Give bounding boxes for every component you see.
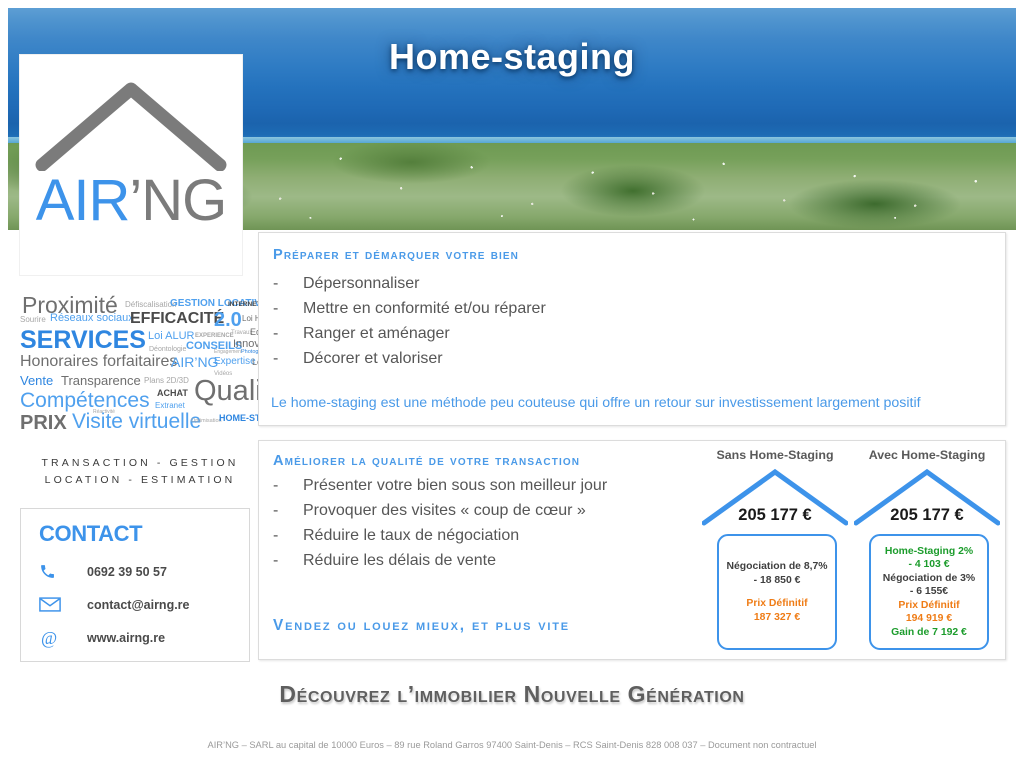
- contact-row-email[interactable]: contact@airng.re: [39, 597, 190, 612]
- flyer-page: Home-staging AIR’NG ProximitéDéfiscalisa…: [0, 0, 1024, 765]
- comparison-diagram: Sans Home-Staging205 177 €Négociation de…: [705, 448, 997, 653]
- bullet-dash: -: [273, 350, 303, 368]
- bullet-text: Décorer et valoriser: [303, 350, 443, 368]
- bullet-item: -Réduire les délais de vente: [273, 552, 607, 570]
- house-detail-line: Négociation de 8,7%: [726, 560, 827, 574]
- contact-row-phone[interactable]: 0692 39 50 57: [39, 563, 167, 580]
- house-detail-line: - 18 850 €: [754, 574, 801, 588]
- word-cloud: ProximitéDéfiscalisationGESTION LOCATIVE…: [18, 292, 262, 440]
- word-cloud-item: EFFICACITÉ: [130, 311, 224, 327]
- word-cloud-item: Visite virtuelle: [72, 411, 201, 432]
- bullet-dash: -: [273, 275, 303, 293]
- word-cloud-item: Réseaux sociaux: [50, 313, 134, 324]
- house-card: Sans Home-Staging205 177 €Négociation de…: [705, 448, 845, 653]
- word-cloud-item: SERVICES: [20, 328, 146, 353]
- house-detail-line: - 6 155€: [910, 585, 948, 599]
- word-cloud-item: Transparence: [61, 374, 141, 387]
- bullet-text: Réduire les délais de vente: [303, 552, 496, 570]
- bullet-item: -Ranger et aménager: [273, 325, 546, 343]
- bullet-dash: -: [273, 300, 303, 318]
- bullet-dash: -: [273, 502, 303, 520]
- house-price: 205 177 €: [857, 506, 997, 525]
- house-detail-line: Home-Staging 2%: [885, 545, 973, 559]
- house-label: Avec Home-Staging: [857, 448, 997, 462]
- word-cloud-item: Plans 2D/3D: [144, 377, 189, 385]
- house-detail-line: Négociation de 3%: [883, 572, 975, 586]
- bullet-item: -Dépersonnaliser: [273, 275, 546, 293]
- envelope-icon: [39, 597, 69, 612]
- at-sign-icon: @: [39, 628, 69, 648]
- bullet-text: Provoquer des visites « coup de cœur »: [303, 502, 586, 520]
- contact-email-value: contact@airng.re: [87, 598, 190, 612]
- bullet-dash: -: [273, 527, 303, 545]
- house-detail-line: Gain de 7 192 €: [891, 626, 967, 640]
- word-cloud-item: AIR’NG: [171, 355, 218, 369]
- bullet-text: Présenter votre bien sous son meilleur j…: [303, 477, 607, 495]
- contact-phone-value: 0692 39 50 57: [87, 565, 167, 579]
- section1-heading: Préparer et démarquer votre bien: [273, 247, 519, 263]
- word-cloud-item: HOME-STAGING: [219, 414, 262, 423]
- contact-card: CONTACT 0692 39 50 57 contact@airng.re @…: [20, 508, 250, 662]
- word-cloud-item: 2.0: [214, 310, 242, 330]
- word-cloud-item: Optimisation: [191, 419, 222, 425]
- house-detail-line: 194 919 €: [906, 612, 952, 626]
- logo-ng-text: NG: [141, 168, 226, 233]
- section2-bullet-list: -Présenter votre bien sous son meilleur …: [273, 477, 607, 577]
- house-detail-line: Prix Définitif: [746, 597, 807, 611]
- bullet-item: -Présenter votre bien sous son meilleur …: [273, 477, 607, 495]
- house-details-box: Négociation de 8,7%- 18 850 €Prix Défini…: [717, 534, 837, 650]
- logo-air-text: AIR: [36, 168, 130, 233]
- bullet-item: -Provoquer des visites « coup de cœur »: [273, 502, 607, 520]
- word-cloud-item: ACHAT: [157, 389, 188, 398]
- logo-card: AIR’NG: [20, 55, 242, 275]
- tagline-line-2: LOCATION - ESTIMATION: [18, 472, 262, 489]
- bullet-text: Dépersonnaliser: [303, 275, 420, 293]
- house-detail-line: 187 327 €: [754, 611, 800, 625]
- word-cloud-item: INTERNET: [228, 302, 261, 309]
- house-label: Sans Home-Staging: [705, 448, 845, 462]
- bullet-item: -Décorer et valoriser: [273, 350, 546, 368]
- word-cloud-item: Expertise: [214, 357, 256, 367]
- bullet-text: Ranger et aménager: [303, 325, 450, 343]
- house-card: Avec Home-Staging205 177 €Home-Staging 2…: [857, 448, 997, 653]
- bullet-item: -Mettre en conformité et/ou réparer: [273, 300, 546, 318]
- section2-heading: Améliorer la qualité de votre transactio…: [273, 453, 580, 469]
- contact-website-value: www.airng.re: [87, 631, 165, 645]
- logo-wordmark: AIR’NG: [20, 167, 242, 234]
- logo-apostrophe: ’: [129, 168, 141, 233]
- contact-row-website[interactable]: @ www.airng.re: [39, 628, 165, 648]
- word-cloud-item: Déontologie: [149, 346, 186, 353]
- bullet-text: Mettre en conformité et/ou réparer: [303, 300, 546, 318]
- word-cloud-item: PRIX: [20, 413, 67, 433]
- bullet-item: -Réduire le taux de négociation: [273, 527, 607, 545]
- section-prepare-box: Préparer et démarquer votre bien -Dépers…: [258, 232, 1006, 426]
- section1-bullet-list: -Dépersonnaliser-Mettre en conformité et…: [273, 275, 546, 375]
- phone-icon: [39, 563, 69, 580]
- tagline-line-1: TRANSACTION - GESTION: [18, 455, 262, 472]
- word-cloud-item: Compétences: [20, 390, 150, 411]
- house-price: 205 177 €: [705, 506, 845, 525]
- bullet-dash: -: [273, 477, 303, 495]
- word-cloud-item: Qualité: [194, 377, 262, 406]
- word-cloud-item: Engagement: [214, 350, 242, 355]
- house-details-box: Home-Staging 2%- 4 103 €Négociation de 3…: [869, 534, 989, 650]
- contact-title: CONTACT: [39, 521, 142, 547]
- house-roof-icon: [20, 79, 242, 171]
- bullet-dash: -: [273, 325, 303, 343]
- footer-legal-text: AIR’NG – SARL au capital de 10000 Euros …: [0, 740, 1024, 750]
- word-cloud-item: Sourire: [20, 316, 46, 324]
- word-cloud-item: Vente: [20, 374, 53, 387]
- bullet-text: Réduire le taux de négociation: [303, 527, 519, 545]
- svg-text:@: @: [41, 628, 57, 648]
- word-cloud-item: EXPERIENCE: [195, 333, 234, 339]
- footer-title: Découvrez l’immobilier Nouvelle Générati…: [0, 681, 1024, 708]
- word-cloud-item: Défiscalisation: [125, 301, 177, 309]
- services-tagline: TRANSACTION - GESTION LOCATION - ESTIMAT…: [18, 455, 262, 489]
- house-detail-line: - 4 103 €: [908, 558, 949, 572]
- word-cloud-item: Honoraires forfaitaires: [20, 354, 177, 370]
- house-detail-line: Prix Définitif: [898, 599, 959, 613]
- word-cloud-item: Extranet: [155, 402, 185, 410]
- section2-cta: Vendez ou louez mieux, et plus vite: [273, 617, 570, 635]
- bullet-dash: -: [273, 552, 303, 570]
- section1-note: Le home-staging est une méthode peu cout…: [271, 395, 921, 411]
